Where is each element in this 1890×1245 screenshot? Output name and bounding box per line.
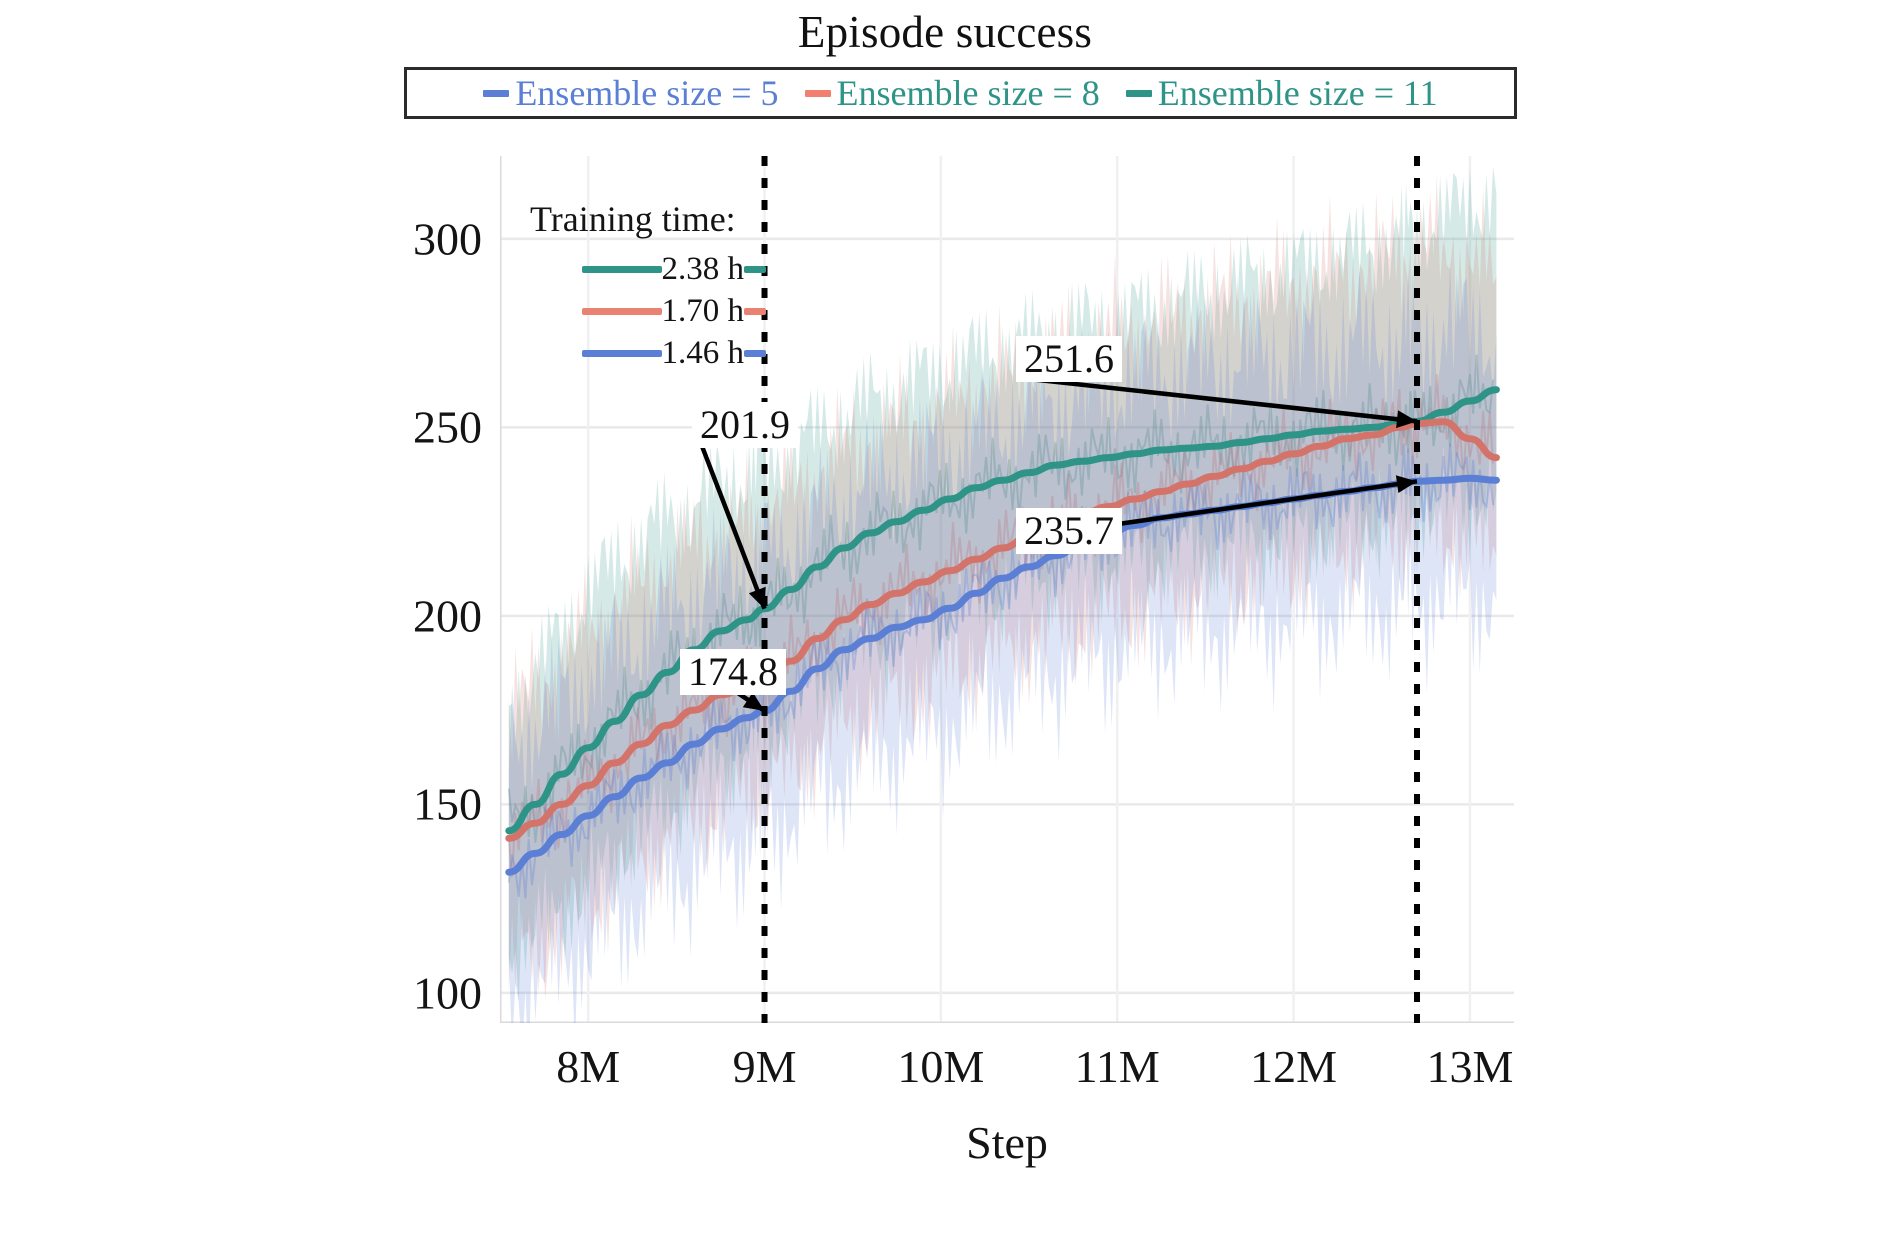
training-time-item-146h: 1.46 h	[530, 332, 766, 374]
x-tick-9M: 9M	[733, 1040, 797, 1093]
legend-label-ensemble-11: Ensemble size = 11	[1158, 75, 1438, 111]
y-tick-150: 150	[322, 778, 482, 831]
annotation-174-8: 174.8	[680, 649, 786, 695]
training-time-marker-146h-right	[744, 350, 766, 357]
annotation-235-7: 235.7	[1016, 508, 1122, 554]
training-time-marker-146h	[582, 350, 662, 357]
annotation-251-6: 251.6	[1016, 336, 1122, 382]
legend-label-ensemble-5: Ensemble size = 5	[515, 75, 778, 111]
training-time-label-238h: 2.38 h	[662, 251, 745, 288]
legend-marker-ensemble-11	[1126, 90, 1152, 97]
legend-item-ensemble-5[interactable]: Ensemble size = 5	[483, 75, 778, 111]
y-tick-200: 200	[322, 589, 482, 642]
y-tick-250: 250	[322, 401, 482, 454]
training-time-legend-title: Training time:	[530, 198, 766, 240]
x-tick-10M: 10M	[897, 1040, 984, 1093]
legend-marker-ensemble-5	[483, 90, 509, 97]
legend-label-ensemble-8: Ensemble size = 8	[837, 75, 1100, 111]
training-time-legend: Training time: 2.38 h 1.70 h 1.46 h	[530, 198, 766, 374]
x-tick-8M: 8M	[556, 1040, 620, 1093]
plot-area: 100150200250300 8M9M10M11M12M13M Step Tr…	[500, 156, 1514, 1023]
x-tick-11M: 11M	[1075, 1040, 1160, 1093]
x-tick-13M: 13M	[1426, 1040, 1513, 1093]
legend-marker-ensemble-8	[805, 90, 831, 97]
x-tick-12M: 12M	[1250, 1040, 1337, 1093]
plot-wrapper: 100150200250300 8M9M10M11M12M13M Step Tr…	[0, 120, 1890, 1245]
training-time-item-170h: 1.70 h	[530, 290, 766, 332]
legend-item-ensemble-8[interactable]: Ensemble size = 8	[805, 75, 1100, 111]
training-time-label-146h: 1.46 h	[662, 335, 745, 372]
chart-title: Episode success	[0, 6, 1890, 58]
training-time-label-170h: 1.70 h	[662, 293, 745, 330]
training-time-marker-238h-right	[744, 266, 766, 273]
chart-legend: Ensemble size = 5 Ensemble size = 8 Ense…	[404, 67, 1517, 119]
x-axis-label: Step	[500, 1116, 1514, 1169]
y-tick-300: 300	[322, 212, 482, 265]
training-time-marker-170h-right	[744, 308, 766, 315]
y-tick-100: 100	[322, 966, 482, 1019]
training-time-marker-238h	[582, 266, 662, 273]
training-time-item-238h: 2.38 h	[530, 248, 766, 290]
annotation-201-9: 201.9	[692, 402, 798, 448]
training-time-marker-170h	[582, 308, 662, 315]
legend-item-ensemble-11[interactable]: Ensemble size = 11	[1126, 75, 1438, 111]
